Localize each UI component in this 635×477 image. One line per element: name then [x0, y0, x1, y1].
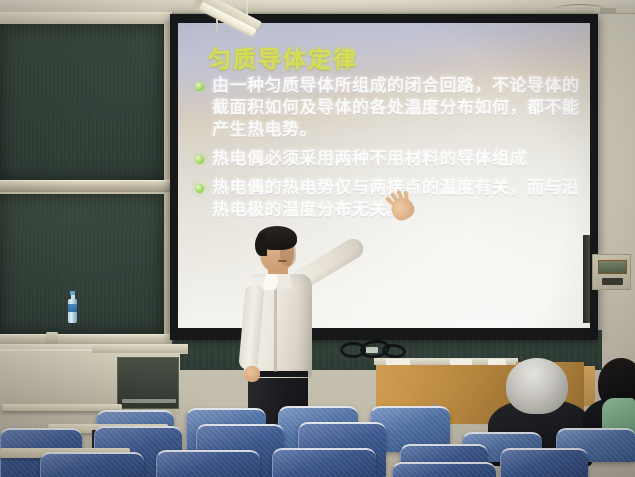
slide-bullet-text: 热电偶必须采用两种不用材料的导体组成 — [212, 148, 590, 170]
presenter-shirt-placket — [274, 286, 277, 372]
panel-display-icon — [598, 260, 627, 274]
bottle-label — [68, 304, 77, 312]
panel-buttons[interactable] — [602, 278, 623, 285]
wall-bracket — [600, 8, 616, 13]
water-bottle-on-ledge — [68, 291, 77, 323]
seat — [392, 462, 496, 477]
podium-paper — [450, 359, 472, 365]
slide-bullet-list: 由一种匀质导体所组成的闭合回路，不论导体的截面积如何及导体的各处温度分布如何，都… — [186, 75, 590, 228]
chalkboard-panel-lower — [0, 194, 164, 334]
dark-monitor — [117, 357, 179, 409]
presenter-hand — [244, 366, 260, 382]
seat — [500, 448, 588, 477]
seat — [156, 450, 260, 477]
chalkboard — [0, 12, 174, 342]
presenter-hair — [255, 234, 267, 256]
monitor-strip — [122, 399, 176, 403]
chalkboard-panel-upper — [0, 24, 164, 180]
wall-dark-strip — [583, 235, 590, 323]
chalkboard-middle-rail — [0, 180, 172, 192]
podium-paper — [386, 359, 410, 365]
slide-bullet-text: 由一种匀质导体所组成的闭合回路，不论导体的截面积如何及导体的各处温度分布如何，都… — [212, 75, 590, 141]
wall-control-panel[interactable] — [592, 254, 631, 290]
bottle-body — [68, 299, 77, 323]
slide-bullet: 由一种匀质导体所组成的闭合回路，不论导体的截面积如何及导体的各处温度分布如何，都… — [186, 75, 590, 141]
presenter-mouth — [278, 260, 287, 262]
seat — [40, 452, 144, 477]
lecture-hall-photo: 匀质导体定律 由一种匀质导体所组成的闭合回路，不论导体的截面积如何及导体的各处温… — [0, 0, 635, 477]
bullet-dot-icon — [195, 155, 204, 164]
slide-bullet: 热电偶必须采用两种不用材料的导体组成 — [186, 148, 590, 170]
seat — [272, 448, 376, 477]
bullet-dot-icon — [195, 184, 204, 193]
ceiling-wire — [555, 4, 605, 14]
object-on-ledge — [46, 332, 58, 344]
bullet-dot-icon — [195, 82, 204, 91]
audience-head — [506, 358, 568, 414]
desk-shelf — [92, 345, 188, 353]
